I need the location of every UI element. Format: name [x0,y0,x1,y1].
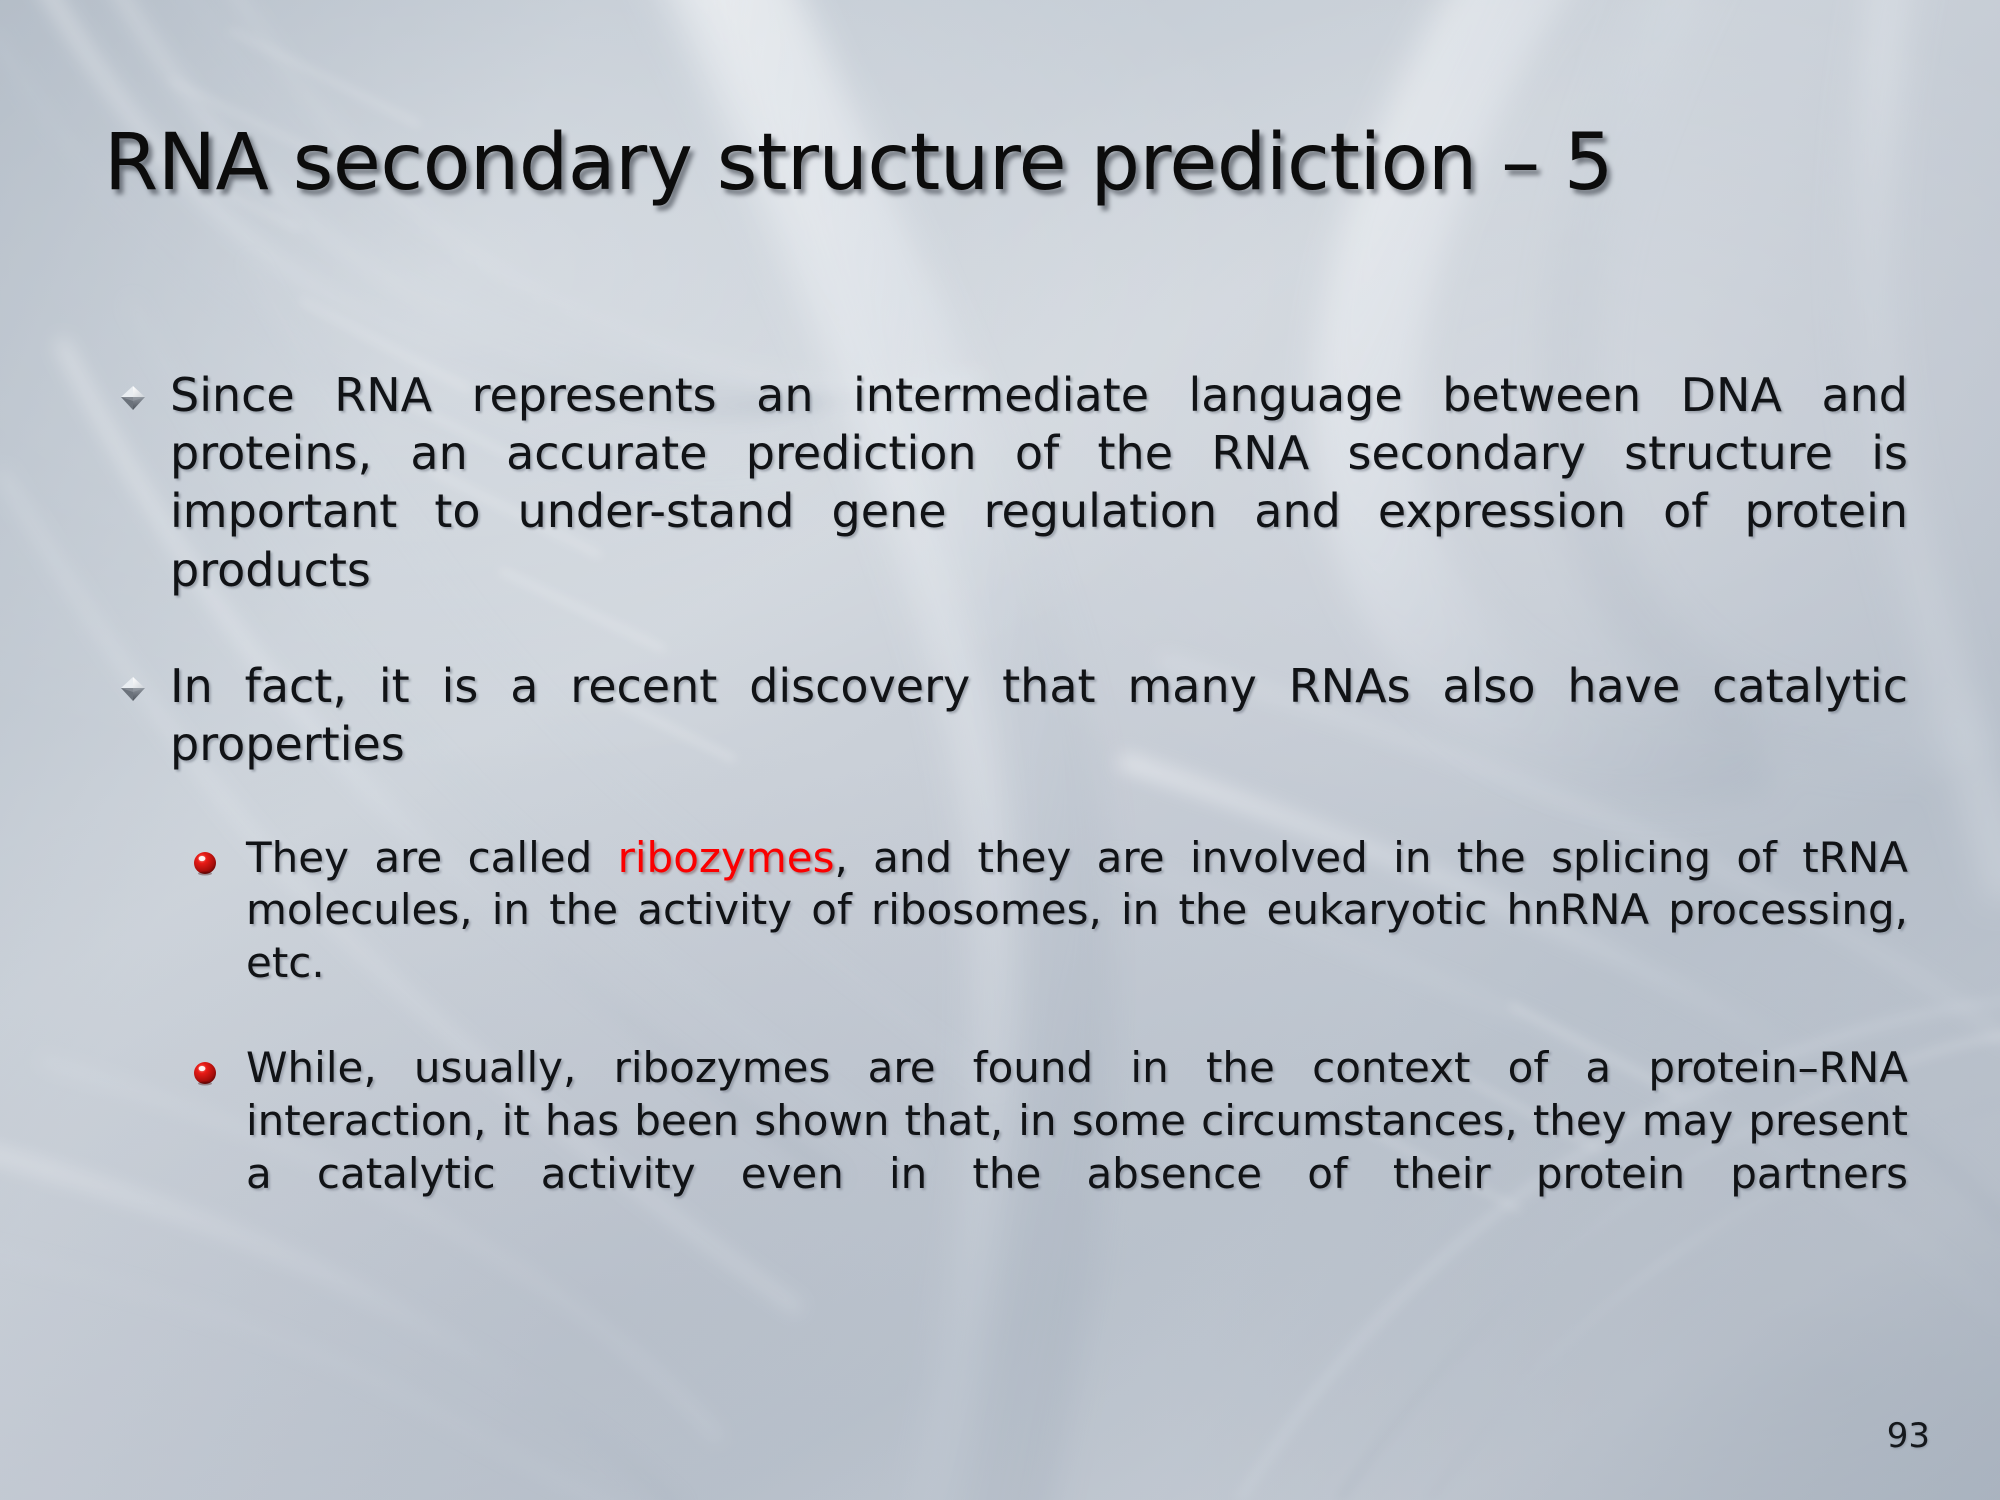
slide-body: Since RNA represents an intermediate lan… [118,366,1908,1253]
bullet-text-prefix: They are called [246,833,618,882]
bullet-item-level2: While, usually, ribozymes are found in t… [192,1042,1908,1253]
diamond-arrow-bullet-icon [118,657,170,704]
bullet-item-level1: In fact, it is a recent discovery that m… [118,657,1908,832]
bullet-item-level1: Since RNA represents an intermediate lan… [118,366,1908,657]
bullet-text-prefix: While, usually, ribozymes are found in t… [246,1043,1908,1197]
bullet-item-level2: They are called ribozymes, and they are … [192,832,1908,1043]
slide-title: RNA secondary structure prediction – 5 [104,124,1904,204]
bullet-text-level1: In fact, it is a recent discovery that m… [170,657,1908,832]
bullet-text-level2: They are called ribozymes, and they are … [246,832,1908,1043]
diamond-arrow-bullet-icon [118,366,170,413]
red-sphere-bullet-icon [192,1042,246,1086]
presentation-slide: RNA secondary structure prediction – 5 [0,0,2000,1500]
bullet-text-level1: Since RNA represents an intermediate lan… [170,366,1908,657]
red-sphere-bullet-icon [192,832,246,876]
bullet-text-level2: While, usually, ribozymes are found in t… [246,1042,1908,1253]
slide-page-number: 93 [1887,1416,1930,1456]
highlighted-term-ribozymes: ribozymes [618,833,835,882]
